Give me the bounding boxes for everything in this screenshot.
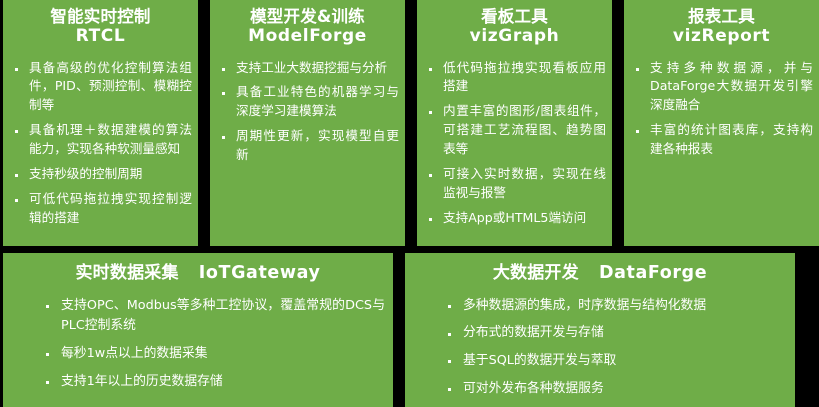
bullet-dot-icon [429,218,432,221]
bullet-text: 具备机理＋数据建模的算法能力，实现各种软测量感知 [29,122,192,156]
bullet-dot-icon [448,360,451,363]
card-title-sub: vizGraph [423,26,606,46]
card-dataforge[interactable]: 大数据开发 DataForge 多种数据源的集成，时序数据与结构化数据 分布式的… [405,253,795,407]
bullet-list-iotgateway: 支持OPC、Modbus等多种工控协议，覆盖常规的DCS与PLC控制系统 每秒1… [11,296,385,393]
bullet-dot-icon [448,333,451,336]
card-title-sub: ModelForge [216,26,399,46]
list-item: 支持秒级的控制周期 [11,165,192,184]
list-item: 基于SQL的数据开发与萃取 [441,351,787,372]
bullet-dot-icon [429,174,432,177]
card-title-dataforge: 大数据开发 DataForge [413,263,787,284]
bullet-text: 可接入实时数据，实现在线监视与报警 [443,166,606,200]
bullet-dot-icon [46,353,49,356]
bullet-dot-icon [15,174,18,177]
bullet-text: 可低代码拖拉拽实现控制逻辑的搭建 [29,191,192,225]
bullet-text: 低代码拖拉拽实现看板应用搭建 [443,60,606,94]
bullet-dot-icon [429,111,432,114]
card-title-main: 看板工具 [481,7,548,26]
list-item: 分布式的数据开发与存储 [441,323,787,344]
list-item: 可接入实时数据，实现在线监视与报警 [425,165,606,203]
list-item: 可低代码拖拉拽实现控制逻辑的搭建 [11,190,192,228]
card-title-main: 模型开发&训练 [250,7,365,26]
card-vizreport[interactable]: 报表工具 vizReport 支持多种数据源，并与DataForge大数据开发引… [624,0,819,246]
bullet-list-modelforge: 支持工业大数据挖掘与分析 具备工业特色的机器学习与深度学习建模算法 周期性更新，… [216,59,399,165]
card-title-main: 实时数据采集 [75,263,178,283]
bullet-dot-icon [222,92,225,95]
list-item: 支持App或HTML5端访问 [425,209,606,228]
card-title-main: 大数据开发 [493,263,579,283]
list-item: 每秒1w点以上的数据采集 [39,344,385,365]
list-item: 支持多种数据源，并与DataForge大数据开发引擎深度融合 [632,59,813,116]
list-item: 可对外发布各种数据服务 [441,379,787,400]
bullet-text: 多种数据源的集成，时序数据与结构化数据 [463,298,706,313]
bullet-list-rtcl: 具备高级的优化控制算法组件，PID、预测控制、模糊控制等 具备机理＋数据建模的算… [9,59,192,228]
card-iotgateway[interactable]: 实时数据采集 IoTGateway 支持OPC、Modbus等多种工控协议，覆盖… [3,253,393,407]
bullet-dot-icon [15,68,18,71]
list-item: 支持1年以上的历史数据存储 [39,372,385,393]
list-item: 具备工业特色的机器学习与深度学习建模算法 [218,83,399,121]
bullet-text: 支持App或HTML5端访问 [443,210,586,225]
bullet-dot-icon [15,199,18,202]
card-title-sub: RTCL [9,26,192,46]
product-capability-board: 智能实时控制 RTCL 具备高级的优化控制算法组件，PID、预测控制、模糊控制等… [0,0,819,407]
bullet-text: 支持秒级的控制周期 [29,166,142,181]
card-title-main: 智能实时控制 [50,7,150,26]
list-item: 支持OPC、Modbus等多种工控协议，覆盖常规的DCS与PLC控制系统 [39,296,385,337]
bullet-text: 基于SQL的数据开发与萃取 [463,353,616,368]
bullet-text: 具备工业特色的机器学习与深度学习建模算法 [236,84,399,118]
bullet-dot-icon [448,305,451,308]
card-title-rtcl: 智能实时控制 RTCL [9,7,192,47]
card-title-sub: IoTGateway [199,263,321,283]
bullet-list-vizreport: 支持多种数据源，并与DataForge大数据开发引擎深度融合 丰富的统计图表库，… [630,59,813,159]
bullet-dot-icon [429,68,432,71]
bullet-text: 支持1年以上的历史数据存储 [61,374,223,389]
list-item: 丰富的统计图表库，支持构建各种报表 [632,121,813,159]
top-card-row: 智能实时控制 RTCL 具备高级的优化控制算法组件，PID、预测控制、模糊控制等… [0,0,819,246]
bullet-dot-icon [46,381,49,384]
bullet-text: 每秒1w点以上的数据采集 [61,346,208,361]
list-item: 具备高级的优化控制算法组件，PID、预测控制、模糊控制等 [11,59,192,116]
bullet-text: 丰富的统计图表库，支持构建各种报表 [650,122,813,156]
bullet-dot-icon [15,130,18,133]
card-modelforge[interactable]: 模型开发&训练 ModelForge 支持工业大数据挖掘与分析 具备工业特色的机… [210,0,405,246]
list-item: 多种数据源的集成，时序数据与结构化数据 [441,296,787,317]
list-item: 支持工业大数据挖掘与分析 [218,59,399,78]
bullet-dot-icon [222,68,225,71]
list-item: 低代码拖拉拽实现看板应用搭建 [425,59,606,97]
bullet-text: 支持多种数据源，并与DataForge大数据开发引擎深度融合 [650,60,813,113]
bottom-card-row: 实时数据采集 IoTGateway 支持OPC、Modbus等多种工控协议，覆盖… [0,253,819,407]
bullet-text: 可对外发布各种数据服务 [463,381,604,396]
list-item: 内置丰富的图形/图表组件，可搭建工艺流程图、趋势图表等 [425,102,606,159]
card-title-vizreport: 报表工具 vizReport [630,7,813,47]
bullet-dot-icon [448,388,451,391]
list-item: 具备机理＋数据建模的算法能力，实现各种软测量感知 [11,121,192,159]
card-title-modelforge: 模型开发&训练 ModelForge [216,7,399,47]
card-title-vizgraph: 看板工具 vizGraph [423,7,606,47]
bullet-dot-icon [222,136,225,139]
card-title-sub: vizReport [630,26,813,46]
bullet-text: 支持工业大数据挖掘与分析 [236,60,387,75]
bullet-list-dataforge: 多种数据源的集成，时序数据与结构化数据 分布式的数据开发与存储 基于SQL的数据… [413,296,787,400]
bullet-text: 支持OPC、Modbus等多种工控协议，覆盖常规的DCS与PLC控制系统 [61,298,385,334]
bullet-text: 分布式的数据开发与存储 [463,325,604,340]
list-item: 周期性更新，实现模型自更新 [218,127,399,165]
bullet-dot-icon [636,130,639,133]
bullet-text: 内置丰富的图形/图表组件，可搭建工艺流程图、趋势图表等 [443,103,606,156]
bullet-dot-icon [636,68,639,71]
card-rtcl[interactable]: 智能实时控制 RTCL 具备高级的优化控制算法组件，PID、预测控制、模糊控制等… [3,0,198,246]
bullet-list-vizgraph: 低代码拖拉拽实现看板应用搭建 内置丰富的图形/图表组件，可搭建工艺流程图、趋势图… [423,59,606,228]
bullet-text: 周期性更新，实现模型自更新 [236,128,399,162]
card-title-sub: DataForge [599,263,707,283]
card-vizgraph[interactable]: 看板工具 vizGraph 低代码拖拉拽实现看板应用搭建 内置丰富的图形/图表组… [417,0,612,246]
card-title-iotgateway: 实时数据采集 IoTGateway [11,263,385,284]
card-title-main: 报表工具 [688,7,755,26]
bullet-dot-icon [46,305,49,308]
bullet-text: 具备高级的优化控制算法组件，PID、预测控制、模糊控制等 [29,60,192,113]
